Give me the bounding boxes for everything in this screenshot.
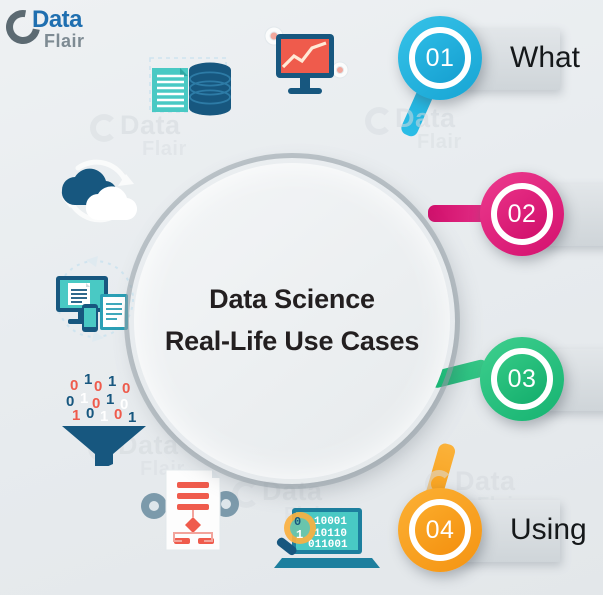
binary-row-3: 011001 [308,539,348,551]
svg-text:0: 0 [114,406,122,423]
magnifier-knob-04[interactable]: 04 [398,488,482,572]
database-document-icon [140,40,236,135]
svg-text:1: 1 [108,373,116,390]
svg-text:1: 1 [72,407,80,424]
watermark-line2: Flair [142,139,187,159]
watermark-ring-icon [90,114,118,142]
svg-text:1: 1 [128,409,136,426]
cloud-sync-icon [48,148,146,239]
watermark-ring-icon [365,107,393,135]
step-number-04: 04 [409,499,471,561]
center-title-line1: Data Science [209,279,375,321]
magnifier-knob-02[interactable]: 02 [480,172,564,256]
logo-text: Data Flair [32,6,85,52]
svg-text:0: 0 [70,377,78,394]
svg-text:0: 0 [94,378,102,395]
svg-text:0: 0 [294,515,301,529]
magnifier-knob-01[interactable]: 01 [398,16,482,100]
step-number-03: 03 [491,348,553,410]
watermark-line2: Flair [417,132,462,152]
step-label-01: What [510,16,580,100]
magnifier-knob-03[interactable]: 03 [480,337,564,421]
svg-text:0: 0 [86,405,94,422]
flowchart-document-icon [140,462,240,561]
logo-data-text: Data [32,6,85,34]
dataflair-logo[interactable]: Data Flair [6,4,96,60]
logo-flair-text: Flair [44,31,85,52]
step-number-01: 01 [409,27,471,89]
center-circle: Data Science Real-Life Use Cases [129,158,455,484]
binary-laptop-icon: 10001 10110 011001 0 1 [270,496,382,585]
center-title-line2: Real-Life Use Cases [165,321,419,363]
svg-text:1: 1 [84,371,92,388]
watermark: Data Flair [395,105,462,152]
step-label-04: Using [510,488,587,572]
svg-text:1: 1 [296,528,303,542]
svg-text:1: 1 [100,408,108,425]
step-number-02: 02 [491,183,553,245]
card-handle-02 [428,205,488,222]
svg-text:0: 0 [122,380,130,397]
monitor-chart-icon [256,22,352,113]
watermark-line1: Data [395,105,462,132]
binary-row-1: 10001 [314,516,347,528]
